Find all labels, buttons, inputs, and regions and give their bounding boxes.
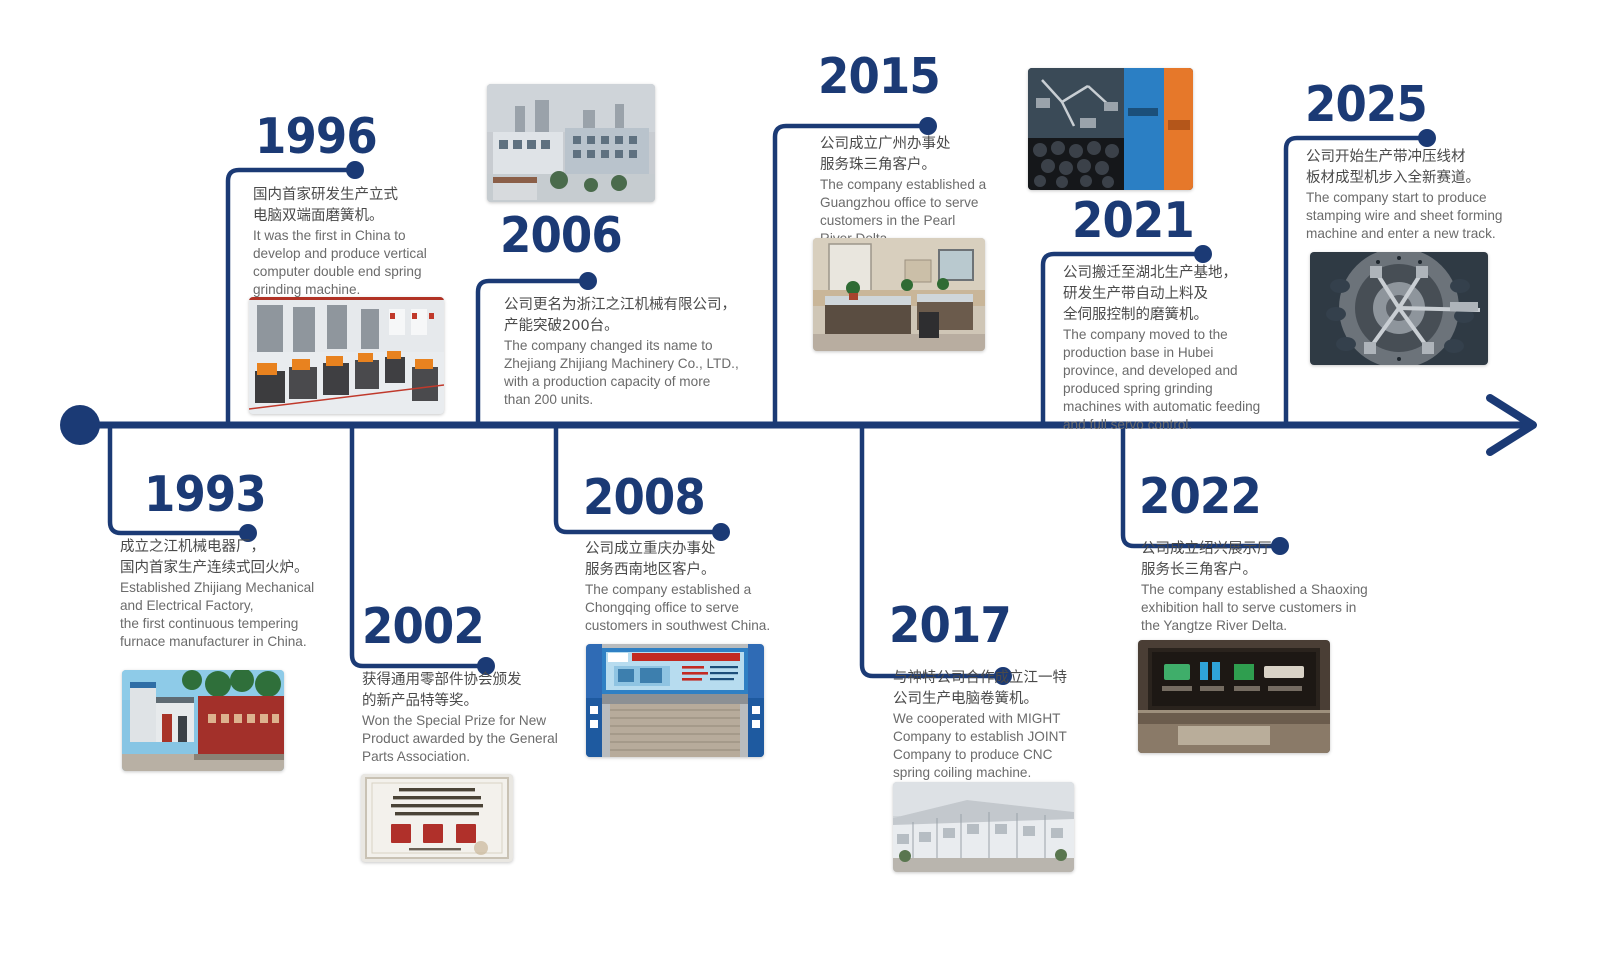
event-text-2022: 公司成立绍兴展示厅 服务长三角客户。 The company establish… — [1141, 539, 1391, 635]
year-label-2006: 2006 — [500, 211, 622, 260]
event-text-1996: 国内首家研发生产立式 电脑双端面磨簧机。 It was the first in… — [253, 185, 453, 299]
event-text-2021: 公司搬迁至湖北生产基地， 研发生产带自动上料及 全伺服控制的磨簧机。 The c… — [1063, 263, 1277, 435]
event-cn-2021: 公司搬迁至湖北生产基地， 研发生产带自动上料及 全伺服控制的磨簧机。 — [1063, 263, 1277, 326]
event-en-2008: The company established a Chongqing offi… — [585, 581, 800, 635]
event-cn-2002: 获得通用零部件协会颁发 的新产品特等奖。 — [362, 670, 577, 712]
event-cn-2008: 公司成立重庆办事处 服务西南地区客户。 — [585, 539, 800, 581]
event-text-2025: 公司开始生产带冲压线材 板材成型机步入全新赛道。 The company sta… — [1306, 147, 1521, 243]
node-dot-2021 — [1194, 245, 1212, 263]
event-en-1996: It was the first in China to develop and… — [253, 227, 453, 299]
year-label-2002: 2002 — [362, 602, 484, 651]
event-text-1993: 成立之江机械电器厂， 国内首家生产连续式回火炉。 Established Zhi… — [120, 537, 360, 651]
year-label-2015: 2015 — [818, 52, 940, 101]
event-en-2021: The company moved to the production base… — [1063, 326, 1277, 434]
event-text-2006: 公司更名为浙江之江机械有限公司， 产能突破200台。 The company c… — [504, 295, 754, 409]
photo-stamping-forming-machine — [1310, 252, 1488, 365]
event-cn-2022: 公司成立绍兴展示厅 服务长三角客户。 — [1141, 539, 1391, 581]
photo-factory-aerial-view — [487, 84, 655, 202]
photo-workshop-orange-machines — [249, 297, 444, 414]
node-dot-2006 — [579, 272, 597, 290]
event-en-2002: Won the Special Prize for New Product aw… — [362, 712, 577, 766]
photo-factory-gate-red-wall — [122, 670, 284, 771]
photo-guangzhou-office-interior — [813, 238, 985, 351]
photo-joint-company-building — [893, 782, 1074, 872]
event-cn-1993: 成立之江机械电器厂， 国内首家生产连续式回火炉。 — [120, 537, 360, 579]
event-en-1993: Established Zhijiang Mechanical and Elec… — [120, 579, 360, 651]
year-label-2025: 2025 — [1305, 80, 1427, 129]
year-label-2017: 2017 — [889, 601, 1011, 650]
event-cn-2017: 与神特公司合作成立江一特 公司生产电脑卷簧机。 — [893, 668, 1093, 710]
timeline-start-dot — [60, 405, 100, 445]
event-cn-2015: 公司成立广州办事处 服务珠三角客户。 — [820, 134, 1010, 176]
event-en-2006: The company changed its name to Zhejiang… — [504, 337, 754, 409]
event-cn-1996: 国内首家研发生产立式 电脑双端面磨簧机。 — [253, 185, 453, 227]
event-text-2017: 与神特公司合作成立江一特 公司生产电脑卷簧机。 We cooperated wi… — [893, 668, 1093, 782]
node-dot-2015 — [919, 117, 937, 135]
year-label-2008: 2008 — [583, 473, 705, 522]
event-en-2025: The company start to produce stamping wi… — [1306, 189, 1521, 243]
event-text-2015: 公司成立广州办事处 服务珠三角客户。 The company establish… — [820, 134, 1010, 248]
photo-award-certificate — [361, 774, 513, 862]
photo-servo-grinding-machine — [1028, 68, 1193, 190]
event-cn-2025: 公司开始生产带冲压线材 板材成型机步入全新赛道。 — [1306, 147, 1521, 189]
year-label-2021: 2021 — [1072, 196, 1194, 245]
event-text-2002: 获得通用零部件协会颁发 的新产品特等奖。 Won the Special Pri… — [362, 670, 577, 766]
photo-chongqing-office-storefront — [586, 644, 764, 757]
event-text-2008: 公司成立重庆办事处 服务西南地区客户。 The company establis… — [585, 539, 800, 635]
event-cn-2006: 公司更名为浙江之江机械有限公司， 产能突破200台。 — [504, 295, 754, 337]
photo-shaoxing-exhibition-hall — [1138, 640, 1330, 753]
timeline-infographic: 1996 国内首家研发生产立式 电脑双端面磨簧机。 It was the fir… — [0, 0, 1600, 959]
event-en-2022: The company established a Shaoxing exhib… — [1141, 581, 1391, 635]
year-label-1993: 1993 — [144, 470, 266, 519]
year-label-1996: 1996 — [255, 112, 377, 161]
year-label-2022: 2022 — [1139, 472, 1261, 521]
event-en-2017: We cooperated with MIGHT Company to esta… — [893, 710, 1093, 782]
